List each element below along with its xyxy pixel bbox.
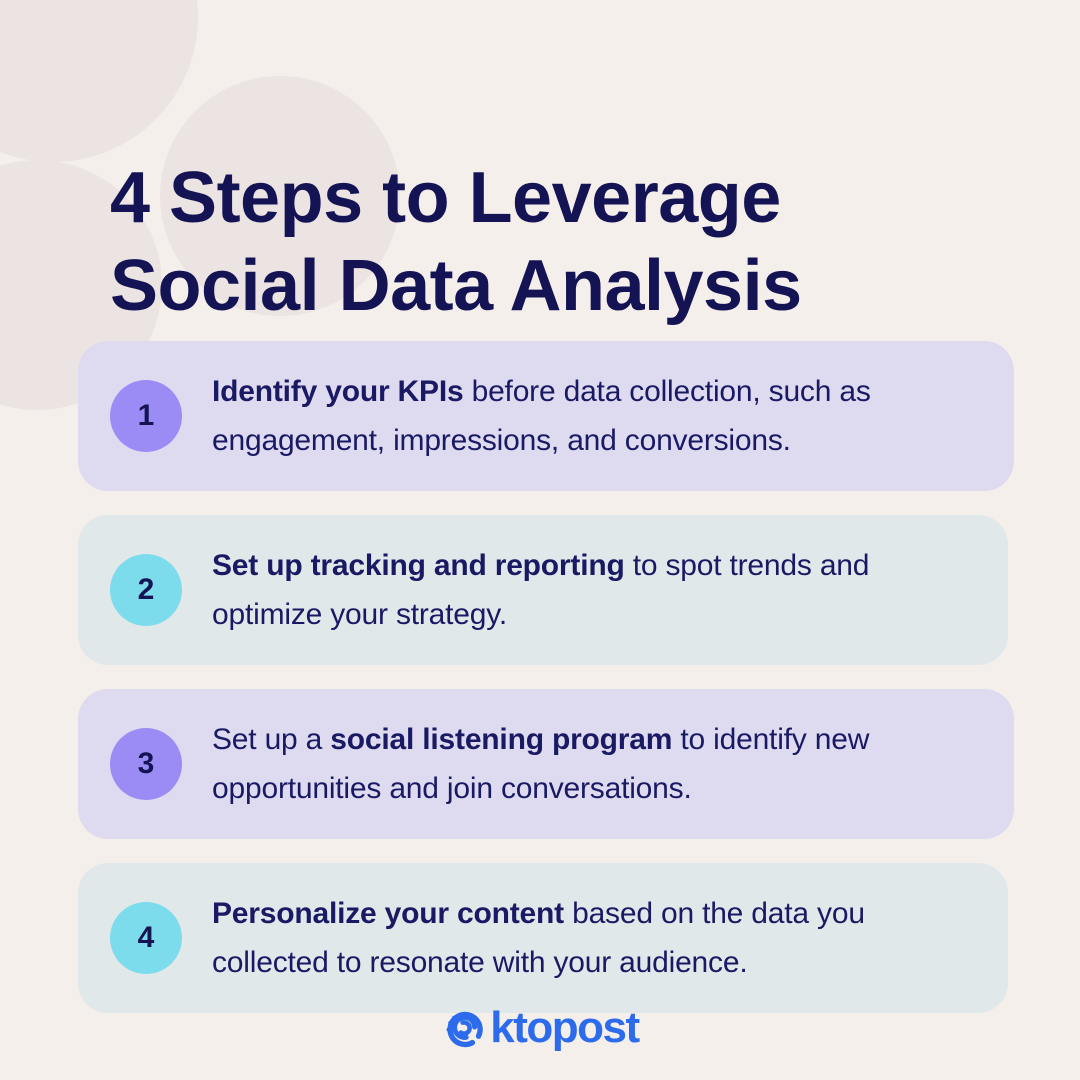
page-title: 4 Steps to Leverage Social Data Analysis: [110, 154, 990, 330]
step-text-lead: Set up a: [212, 723, 330, 756]
step-text-bold: Set up tracking and reporting: [212, 549, 625, 582]
decorative-circle-icon: [0, 0, 198, 162]
step-text-bold: social listening program: [330, 723, 672, 756]
step-number-badge-4: 4: [110, 902, 182, 974]
step-number-badge-3: 3: [110, 728, 182, 800]
step-number-label: 2: [138, 573, 155, 607]
step-text-4: Personalize your content based on the da…: [212, 889, 978, 987]
step-text-2: Set up tracking and reporting to spot tr…: [212, 541, 978, 639]
step-number-badge-2: 2: [110, 554, 182, 626]
brand-wordmark: ktopost: [490, 1006, 638, 1050]
brand-logo: ktopost: [0, 1005, 1080, 1051]
page-title-line-2: Social Data Analysis: [110, 242, 990, 330]
infographic-canvas: 4 Steps to Leverage Social Data Analysis…: [0, 0, 1080, 1080]
step-text-1: Identify your KPIs before data collectio…: [212, 367, 984, 465]
step-card-1: 1 Identify your KPIs before data collect…: [78, 341, 1014, 491]
step-text-bold: Personalize your content: [212, 897, 564, 930]
step-card-2: 2 Set up tracking and reporting to spot …: [78, 515, 1008, 665]
oktopost-spiral-icon: [441, 1005, 489, 1051]
steps-list: 1 Identify your KPIs before data collect…: [78, 341, 1014, 1037]
step-text-3: Set up a social listening program to ide…: [212, 715, 984, 813]
step-number-label: 1: [138, 399, 155, 433]
page-title-line-1: 4 Steps to Leverage: [110, 154, 990, 242]
step-number-label: 4: [138, 921, 155, 955]
step-card-4: 4 Personalize your content based on the …: [78, 863, 1008, 1013]
step-number-label: 3: [138, 747, 155, 781]
step-card-3: 3 Set up a social listening program to i…: [78, 689, 1014, 839]
step-number-badge-1: 1: [110, 380, 182, 452]
step-text-bold: Identify your KPIs: [212, 375, 463, 408]
